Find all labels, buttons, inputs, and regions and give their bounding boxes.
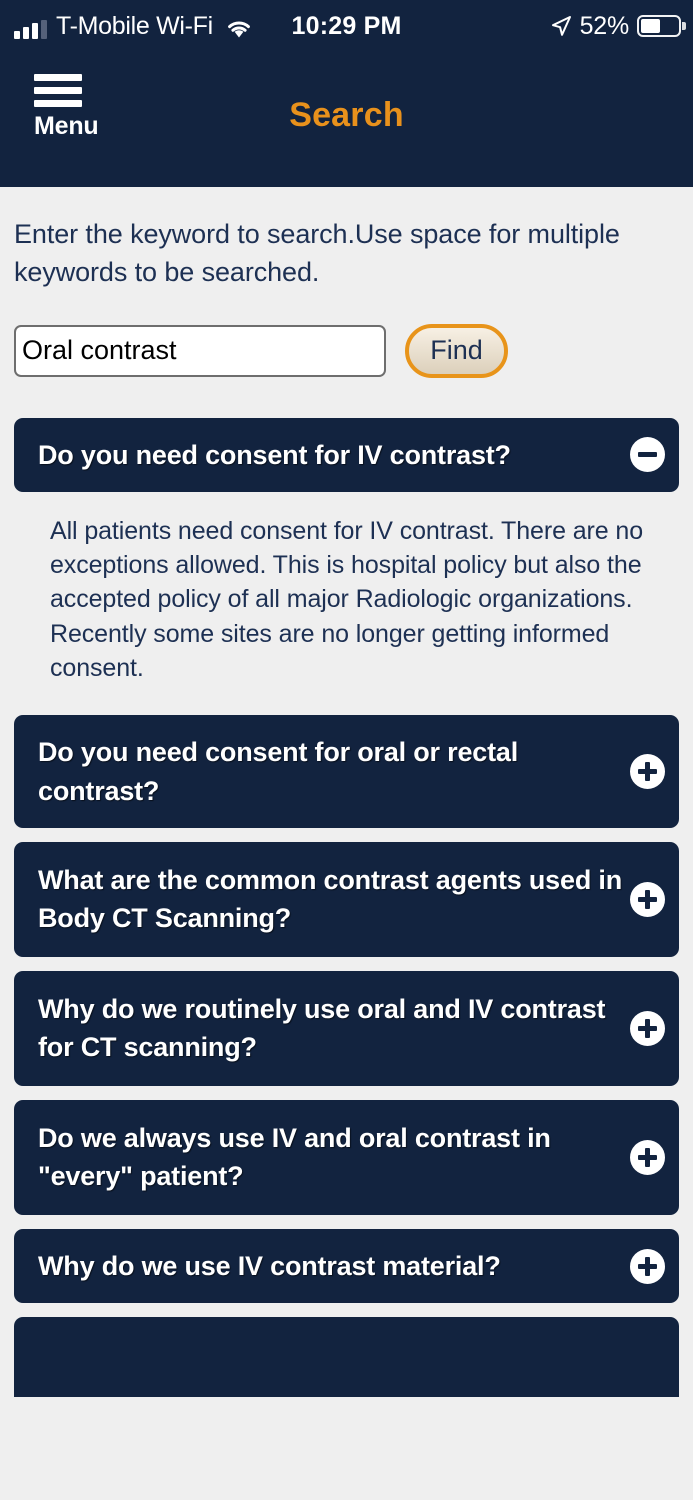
search-instructions: Enter the keyword to search.Use space fo…: [14, 187, 679, 292]
accordion-header[interactable]: Do you need consent for IV contrast?: [14, 418, 679, 492]
accordion-header[interactable]: Why do we routinely use oral and IV cont…: [14, 971, 679, 1086]
find-button[interactable]: Find: [405, 324, 508, 378]
status-bar: T-Mobile Wi-Fi 10:29 PM 52%: [0, 0, 693, 52]
minus-circle-icon[interactable]: [630, 437, 665, 472]
page-title: Search: [0, 96, 693, 135]
status-bar-clock: 10:29 PM: [0, 12, 693, 41]
accordion-header[interactable]: Do you need consent for oral or rectal c…: [14, 715, 679, 828]
accordion-header[interactable]: Do we always use IV and oral contrast in…: [14, 1100, 679, 1215]
search-row: Find: [14, 324, 679, 378]
accordion-item: [14, 1317, 679, 1397]
plus-circle-icon[interactable]: [630, 1249, 665, 1284]
accordion-question: What are the common contrast agents used…: [38, 861, 624, 938]
faq-accordion: Do you need consent for IV contrast? All…: [14, 418, 679, 1398]
search-input[interactable]: [14, 325, 386, 377]
accordion-item: Do we always use IV and oral contrast in…: [14, 1100, 679, 1215]
accordion-question: Do you need consent for oral or rectal c…: [38, 733, 624, 810]
plus-circle-icon[interactable]: [630, 882, 665, 917]
plus-circle-icon[interactable]: [630, 1011, 665, 1046]
plus-circle-icon[interactable]: [630, 1140, 665, 1175]
accordion-item: What are the common contrast agents used…: [14, 842, 679, 957]
battery-icon: [637, 15, 681, 37]
page-content: Enter the keyword to search.Use space fo…: [0, 187, 693, 1397]
accordion-header[interactable]: [14, 1317, 679, 1397]
accordion-item: Why do we use IV contrast material?: [14, 1229, 679, 1303]
accordion-question: Why do we use IV contrast material?: [38, 1247, 501, 1285]
accordion-item: Do you need consent for IV contrast? All…: [14, 418, 679, 702]
accordion-question: Do we always use IV and oral contrast in…: [38, 1119, 624, 1196]
plus-circle-icon[interactable]: [630, 754, 665, 789]
accordion-question: Why do we routinely use oral and IV cont…: [38, 990, 624, 1067]
accordion-header[interactable]: What are the common contrast agents used…: [14, 842, 679, 957]
accordion-item: Do you need consent for oral or rectal c…: [14, 715, 679, 828]
accordion-answer: All patients need consent for IV contras…: [14, 492, 679, 701]
accordion-header[interactable]: Why do we use IV contrast material?: [14, 1229, 679, 1303]
accordion-question: Do you need consent for IV contrast?: [38, 436, 511, 474]
app-header: Menu Search: [0, 52, 693, 187]
accordion-item: Why do we routinely use oral and IV cont…: [14, 971, 679, 1086]
